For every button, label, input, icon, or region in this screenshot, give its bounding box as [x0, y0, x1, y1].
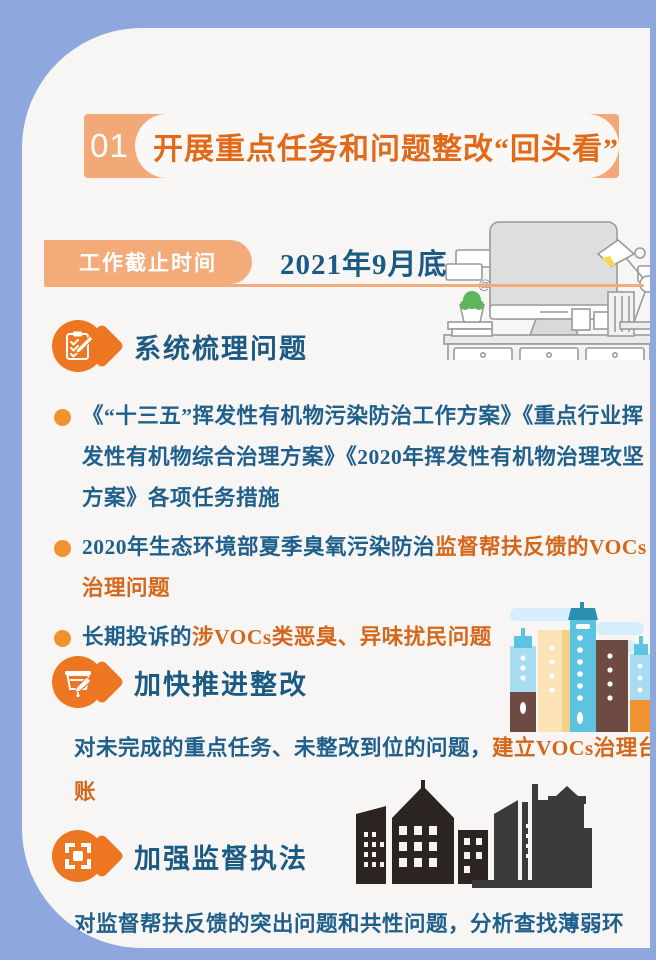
section-title-1: 系统梳理问题 [134, 327, 308, 366]
chip-bracket-icon [52, 830, 104, 882]
right-edge-strip [650, 0, 656, 960]
paragraph-text-blue: 对监督帮扶反馈的突出问题和共性问题，分析查找薄弱环节， [74, 912, 624, 948]
section-header-3: 加强监督执法 [52, 830, 308, 882]
deadline-value: 2021年9月底 [280, 240, 448, 284]
bullet-text-blue: 2020年生态环境部夏季臭氧污染防治 [82, 535, 435, 559]
infographic-page: @ 01 开展重点任务和问题整改“回头看” 工作截止时间 2021年9月底 [0, 0, 656, 960]
content-card: @ 01 开展重点任务和问题整改“回头看” 工作截止时间 2021年9月底 [22, 28, 654, 948]
section-header-2: 加快推进整改 [52, 656, 308, 708]
presentation-board-icon [52, 656, 104, 708]
bullet-dot [54, 409, 71, 426]
section-header-1: 系统梳理问题 [52, 320, 308, 372]
list-item: 2020年生态环境部夏季臭氧污染防治监督帮扶反馈的VOCs治理问题 [52, 527, 654, 609]
bullet-dot [54, 540, 71, 557]
bullet-dot [54, 630, 71, 647]
deadline-block: 工作截止时间 2021年9月底 [44, 240, 654, 296]
dark-city-silhouette-illustration [342, 780, 592, 895]
deadline-divider [44, 284, 644, 287]
bullet-text-blue: 长期投诉的 [82, 625, 192, 649]
section-title-3: 加强监督执法 [134, 837, 308, 876]
section-paragraph-3: 对监督帮扶反馈的突出问题和共性问题，分析查找薄弱环节，组织开展专项治理 [74, 902, 654, 948]
section-title-2: 加快推进整改 [134, 663, 308, 702]
bullet-text-blue: 《“十三五”挥发性有机物污染防治工作方案》《重点行业挥发性有机物综合治理方案》《… [82, 404, 644, 510]
colorful-city-illustration [492, 600, 654, 745]
clipboard-checklist-icon [52, 320, 104, 372]
deadline-label: 工作截止时间 [44, 240, 252, 284]
paragraph-text-blue: 对未完成的重点任务、未整改到位的问题， [74, 736, 492, 760]
section-number: 01 [84, 114, 135, 178]
page-title: 开展重点任务和问题整改“回头看” [135, 114, 619, 178]
bullet-text-orange: 涉VOCs类恶臭、异味扰民问题 [192, 625, 492, 649]
list-item: 《“十三五”挥发性有机物污染防治工作方案》《重点行业挥发性有机物综合治理方案》《… [52, 396, 654, 519]
section-number-banner: 01 开展重点任务和问题整改“回头看” [84, 114, 619, 178]
